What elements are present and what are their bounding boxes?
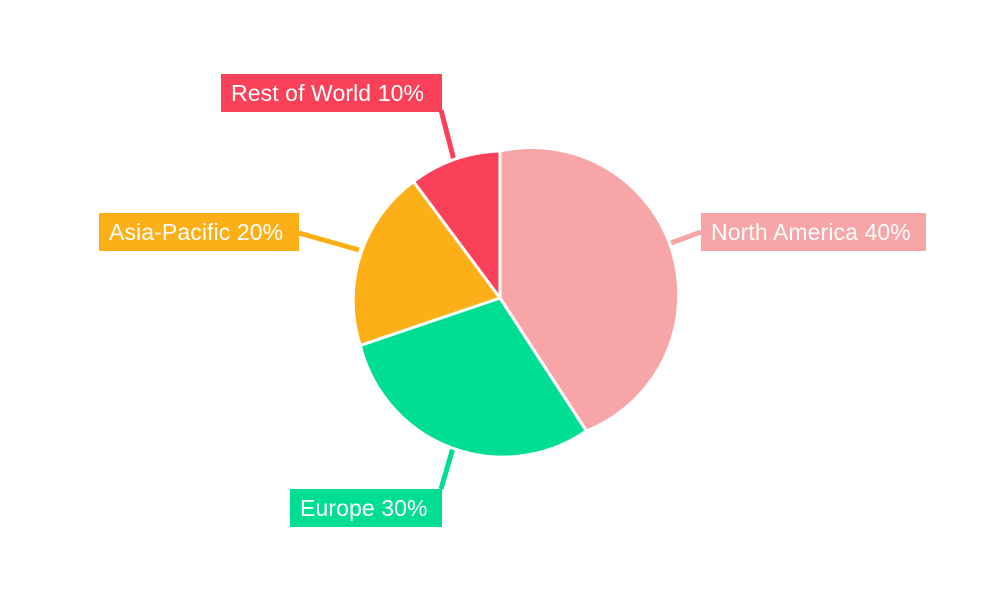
pie-label-asia-pacific-text: Asia-Pacific 20% xyxy=(109,221,283,244)
pie-slices xyxy=(353,148,679,458)
pie-label-europe-text: Europe 30% xyxy=(300,497,428,520)
pie-chart-canvas xyxy=(0,0,1000,600)
pie-label-europe[interactable]: Europe 30% xyxy=(290,489,442,527)
pie-label-asia-pacific[interactable]: Asia-Pacific 20% xyxy=(99,213,299,251)
pie-label-rest-of-world-text: Rest of World 10% xyxy=(231,82,424,105)
pie-chart-figure: North America 40% Europe 30% Asia-Pacifi… xyxy=(0,0,1000,600)
pie-label-north-america[interactable]: North America 40% xyxy=(701,213,926,251)
leader-line-asia-pacific xyxy=(299,233,359,250)
pie-label-north-america-text: North America 40% xyxy=(711,221,911,244)
pie-label-rest-of-world[interactable]: Rest of World 10% xyxy=(221,74,442,112)
